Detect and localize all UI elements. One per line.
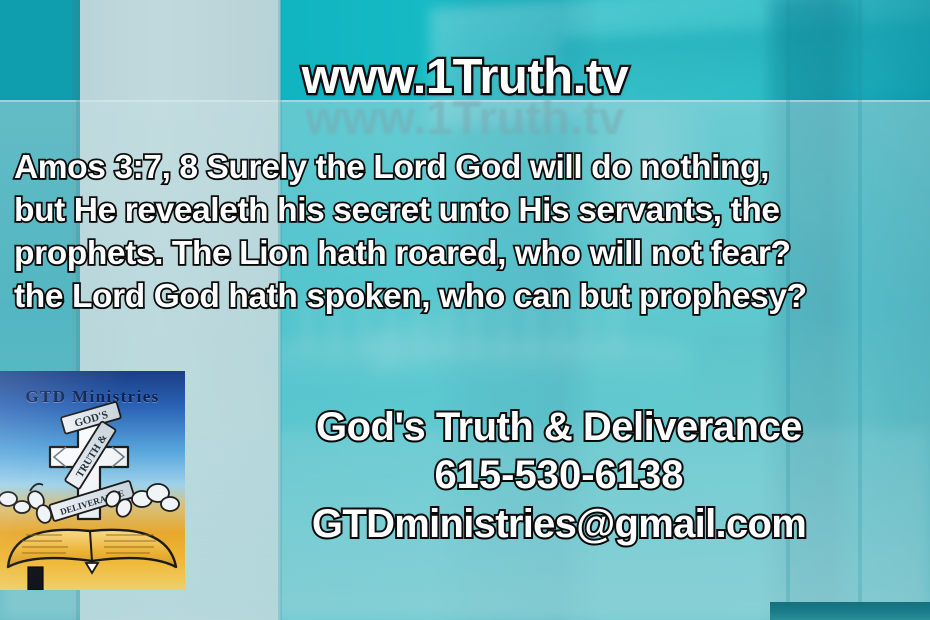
open-bible-icon: [8, 530, 176, 590]
scripture-verse-block: Amos 3:7, 8 Surely the Lord God will do …: [14, 146, 924, 318]
phone-number[interactable]: 615-530-6138: [196, 451, 922, 499]
broken-chain-left: [0, 484, 53, 525]
ministry-name: God's Truth & Deliverance: [196, 403, 922, 451]
video-slide: www.1Truth.tv www.1Truth.tv Amos 3:7, 8 …: [0, 0, 930, 620]
verse-line-2: but He revealeth his secret unto His ser…: [14, 189, 924, 232]
verse-line-3: prophets. The Lion hath roared, who will…: [14, 232, 924, 275]
logo-artwork: GOD'S TRUTH & DELIVERANCE: [0, 371, 185, 590]
email-address[interactable]: GTDministries@gmail.com: [196, 499, 922, 549]
bottom-right-bar: [770, 602, 930, 620]
contact-block: God's Truth & Deliverance 615-530-6138 G…: [196, 403, 922, 549]
verse-line-4: the Lord God hath spoken, who can but pr…: [14, 275, 924, 318]
gtd-ministries-logo: GTD Ministries: [0, 371, 185, 590]
bookmark-icon: [28, 567, 43, 590]
site-title: www.1Truth.tv: [0, 53, 930, 102]
verse-line-1: Amos 3:7, 8 Surely the Lord God will do …: [14, 146, 924, 189]
